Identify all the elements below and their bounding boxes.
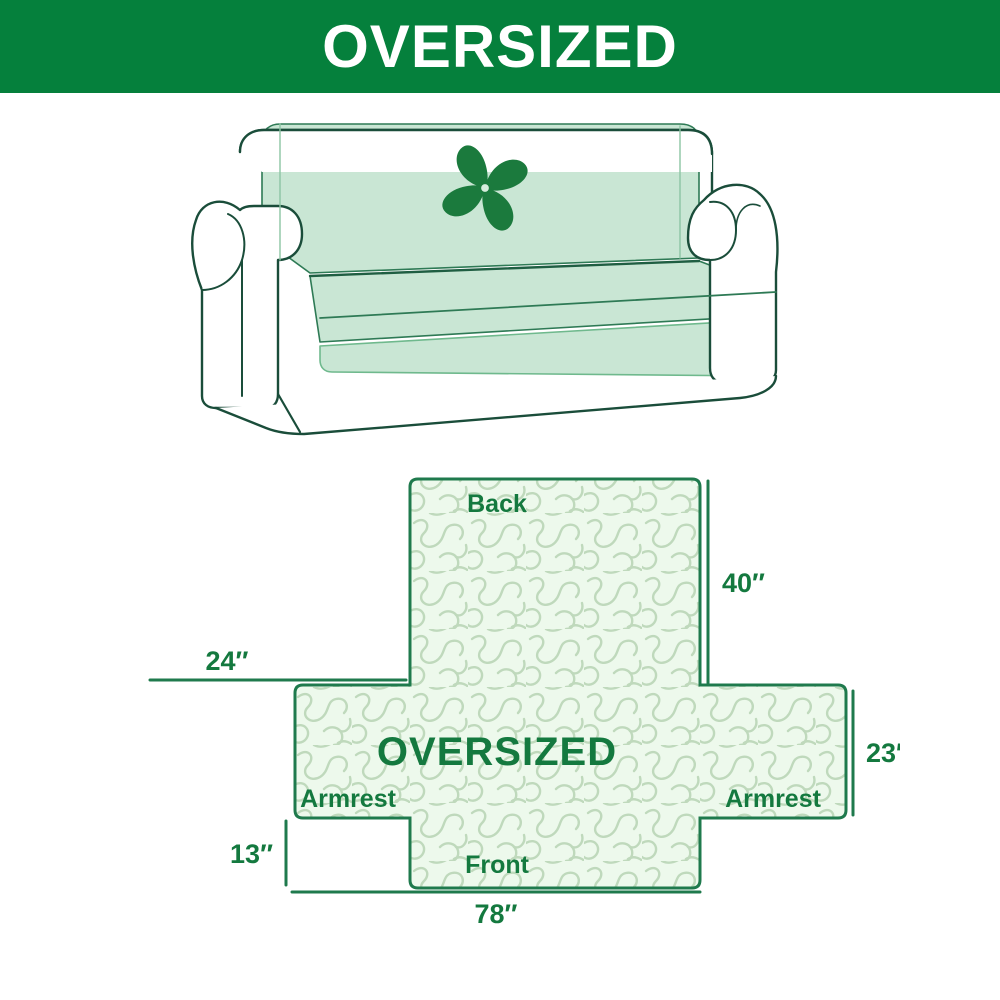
label-front: Front	[465, 851, 530, 879]
sofa-base	[216, 376, 776, 434]
dimension-label-78: 78″	[475, 899, 518, 929]
layout-center-label: OVERSIZED	[377, 730, 617, 774]
dimension-label-24: 24″	[206, 646, 249, 676]
label-armrest-left: Armrest	[300, 785, 397, 813]
label-back: Back	[467, 490, 527, 518]
dimension-label-13: 13″	[230, 839, 273, 869]
label-armrest-right: Armrest	[725, 785, 822, 813]
flat-layout-diagram: 24″ 40″ 23″ 13″ 78″ Back Armrest Armrest…	[120, 455, 900, 935]
cover-silhouette	[290, 475, 854, 895]
dimension-label-23: 23″	[866, 738, 900, 768]
banner-title: OVERSIZED	[322, 17, 678, 77]
sofa-left-armrest	[192, 202, 302, 408]
dimension-label-40: 40″	[722, 568, 765, 598]
header-banner: OVERSIZED	[0, 0, 1000, 93]
sofa-illustration	[180, 110, 830, 440]
product-dimension-infographic: OVERSIZED	[0, 0, 1000, 1000]
